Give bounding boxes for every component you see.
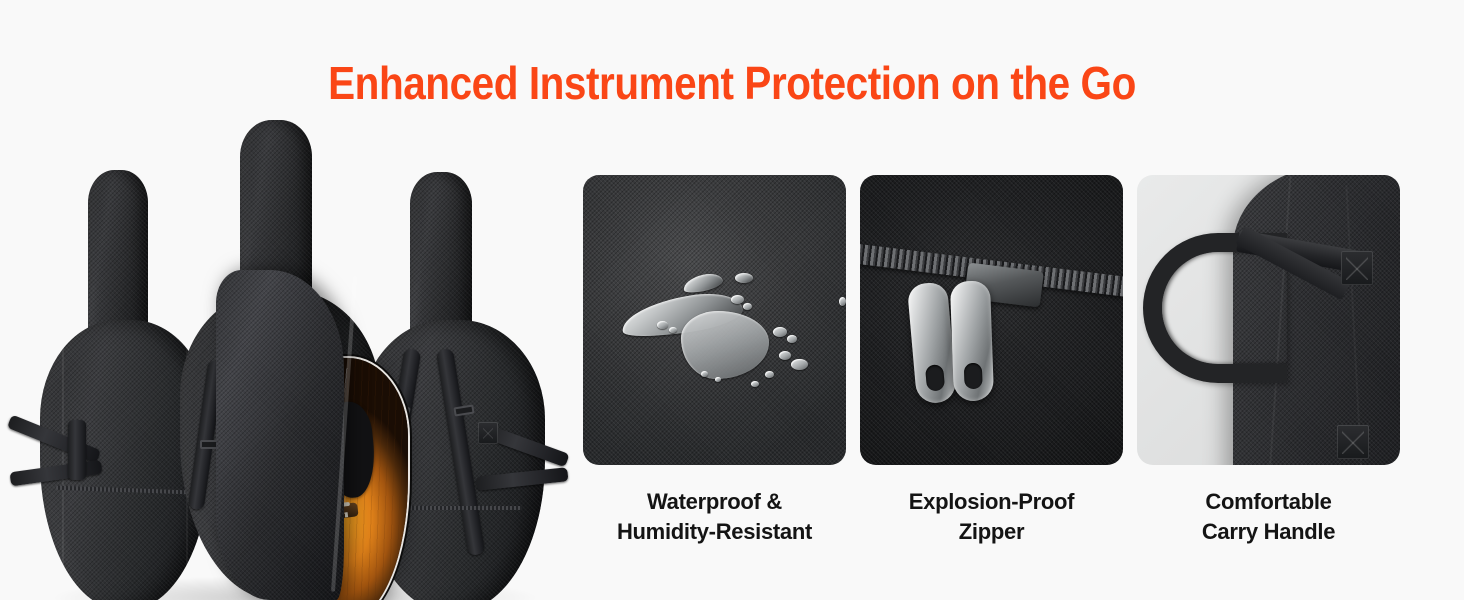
- page-title: Enhanced Instrument Protection on the Go: [88, 58, 1376, 108]
- feature-caption-handle: Comfortable Carry Handle: [1137, 487, 1400, 547]
- pocket-zipper-left: [56, 486, 188, 495]
- water-bead: [751, 381, 759, 387]
- waterproof-fabric-photo: [583, 175, 846, 465]
- water-bead: [657, 321, 668, 329]
- caption-line-1: Comfortable: [1137, 487, 1400, 517]
- water-bead: [743, 303, 752, 310]
- water-droplet-upper-right: [735, 273, 753, 283]
- hero-product-image: [30, 120, 560, 600]
- caption-line-2: Humidity-Resistant: [583, 517, 846, 547]
- feature-caption-waterproof: Waterproof & Humidity-Resistant: [583, 487, 846, 547]
- carry-handle-photo: [1137, 175, 1400, 465]
- water-bead: [765, 371, 774, 378]
- feature-caption-zipper: Explosion-Proof Zipper: [860, 487, 1123, 547]
- backpack-strap-right: [436, 348, 485, 556]
- gig-bag-open-flap: [180, 120, 395, 600]
- side-handle-right-b: [476, 467, 569, 491]
- water-bead: [791, 359, 808, 370]
- caption-line-2: Carry Handle: [1137, 517, 1400, 547]
- product-feature-banner: Enhanced Instrument Protection on the Go: [0, 0, 1464, 600]
- carry-handle-left-b: [9, 460, 102, 487]
- water-bead: [787, 335, 797, 343]
- carry-handle-left: [7, 415, 101, 464]
- water-bead: [779, 351, 791, 360]
- explosion-proof-zipper-photo: [860, 175, 1123, 465]
- water-bead: [839, 297, 846, 306]
- stitch-tack-right: [478, 422, 498, 444]
- feature-card-waterproof: Waterproof & Humidity-Resistant: [583, 175, 846, 547]
- water-bead: [669, 327, 677, 333]
- handle-anchor-left: [68, 420, 86, 480]
- feature-card-list: Waterproof & Humidity-Resistant Explosio…: [583, 175, 1401, 547]
- strap-adjuster-right: [453, 404, 474, 416]
- handle-stitch-tack-top: [1341, 251, 1373, 285]
- caption-line-2: Zipper: [860, 517, 1123, 547]
- water-bead: [731, 295, 744, 304]
- water-bead: [701, 371, 708, 377]
- feature-card-handle: Comfortable Carry Handle: [1137, 175, 1400, 547]
- feature-card-zipper: Explosion-Proof Zipper: [860, 175, 1123, 547]
- handle-stitch-tack-bottom: [1337, 425, 1369, 459]
- water-bead: [715, 377, 721, 382]
- zipper-pull-right: [950, 280, 994, 401]
- caption-line-1: Explosion-Proof: [860, 487, 1123, 517]
- caption-line-1: Waterproof &: [583, 487, 846, 517]
- water-bead: [773, 327, 787, 337]
